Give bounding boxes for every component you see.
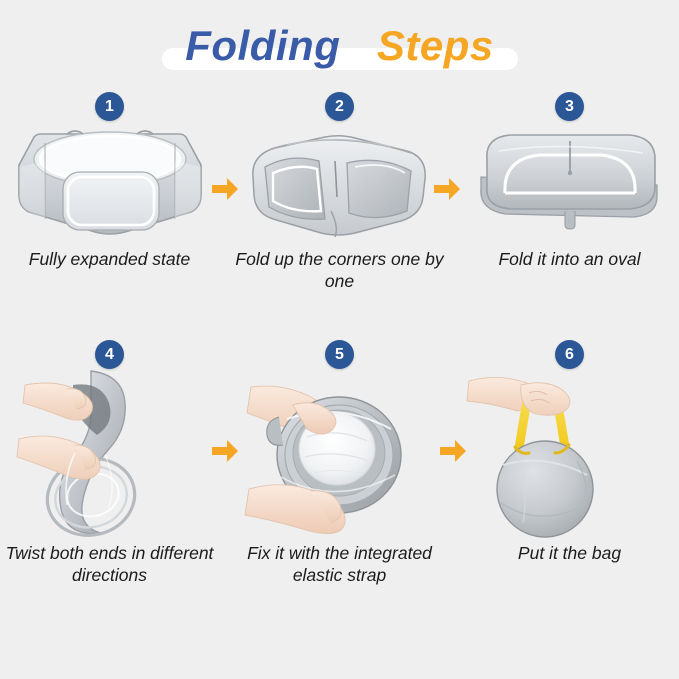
page-header: Folding Steps: [0, 0, 679, 92]
arrow-step4-to-step5: [210, 438, 240, 464]
step-number-badge-1: 1: [95, 92, 124, 121]
step-caption-4: Twist both ends in different directions: [0, 543, 225, 587]
step-caption-6: Put it the bag: [455, 543, 679, 565]
page-title: Folding Steps: [185, 22, 494, 70]
step-illustration-1: [5, 115, 215, 243]
step-caption-5: Fix it with the integrated elastic strap: [225, 543, 455, 587]
step-card-2: 2: [230, 92, 449, 293]
step-card-1: 1: [0, 92, 219, 271]
steps-row-bottom: 4: [0, 340, 679, 640]
title-word-folding: Folding: [185, 22, 340, 69]
steps-row-top: 1: [0, 92, 679, 340]
step-illustration-5: [235, 357, 445, 539]
step-number-badge-2: 2: [325, 92, 354, 121]
step-caption-1: Fully expanded state: [0, 249, 225, 271]
step-illustration-6: [465, 357, 675, 539]
step-card-4: 4: [0, 340, 219, 587]
steps-grid: 1: [0, 92, 679, 640]
step-card-5: 5: [230, 340, 449, 587]
step-number-badge-5: 5: [325, 340, 354, 369]
arrow-step2-to-step3: [432, 176, 462, 202]
step-caption-2: Fold up the corners one by one: [225, 249, 455, 293]
step-illustration-3: [465, 115, 675, 243]
step-illustration-2: [235, 115, 445, 243]
step-card-3: 3: [460, 92, 679, 271]
arrow-step5-to-step6: [438, 438, 468, 464]
step-number-badge-4: 4: [95, 340, 124, 369]
step-number-badge-6: 6: [555, 340, 584, 369]
step-caption-3: Fold it into an oval: [455, 249, 679, 271]
step-card-6: 6: [460, 340, 679, 565]
arrow-step1-to-step2: [210, 176, 240, 202]
step-illustration-4: [5, 357, 215, 539]
step-number-badge-3: 3: [555, 92, 584, 121]
title-word-steps: Steps: [377, 22, 494, 69]
